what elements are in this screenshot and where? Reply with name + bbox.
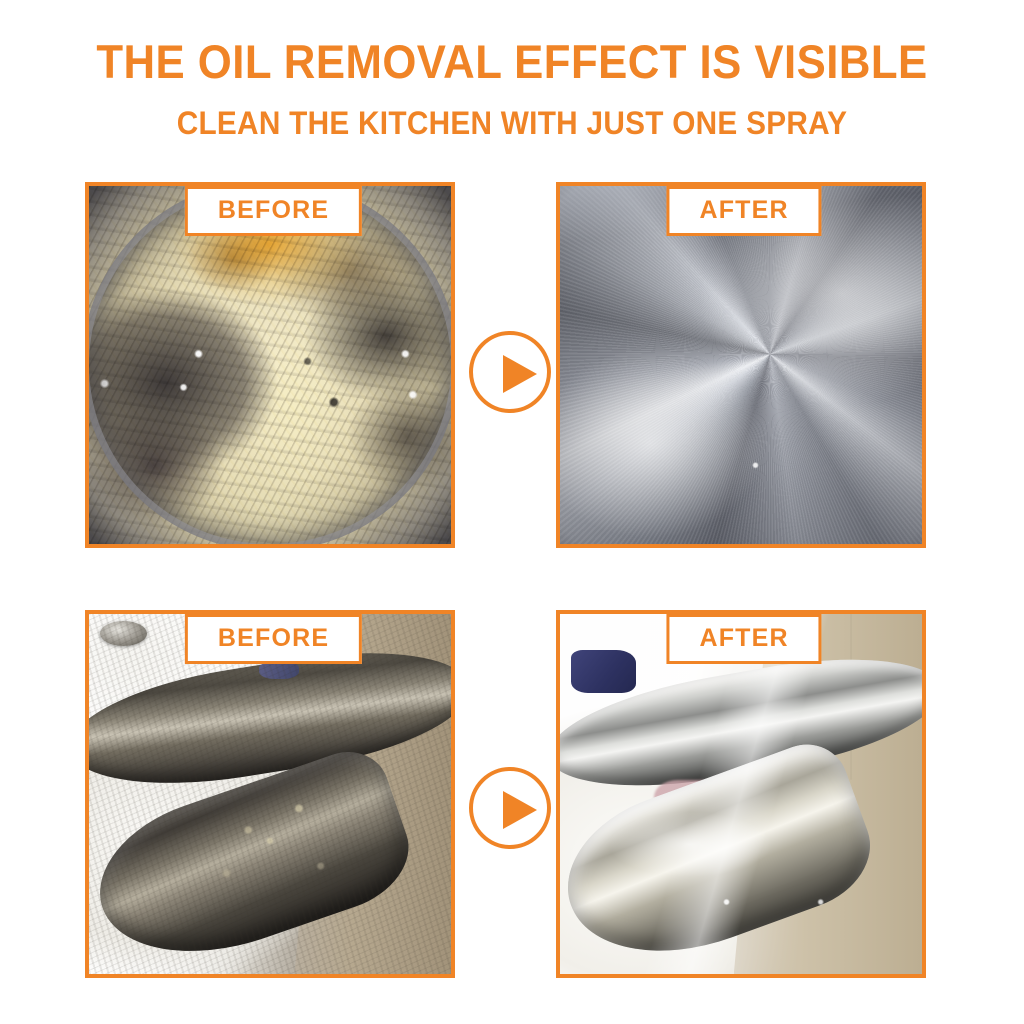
before-badge-faucet: BEFORE [185, 614, 362, 664]
pot-before-photo [89, 186, 451, 544]
gloss-overlay [560, 614, 922, 974]
triangle-glyph [503, 355, 537, 393]
after-image-panel-faucet: AFTER [556, 610, 926, 978]
before-badge-pot: BEFORE [185, 186, 362, 236]
faucet-after-photo [560, 614, 922, 974]
promo-poster: THE OIL REMOVAL EFFECT IS VISIBLE CLEAN … [0, 0, 1024, 1024]
faucet-before-photo [89, 614, 451, 974]
before-image-panel-pot: BEFORE [85, 182, 455, 548]
triangle-glyph [503, 791, 537, 829]
after-badge-pot: AFTER [666, 186, 821, 236]
page-title: THE OIL REMOVAL EFFECT IS VISIBLE [36, 38, 988, 85]
play-arrow-icon-faucet[interactable] [469, 767, 551, 849]
page-subtitle: CLEAN THE KITCHEN WITH JUST ONE SPRAY [36, 107, 988, 139]
play-arrow-icon-pot[interactable] [469, 331, 551, 413]
pot-after-photo [560, 186, 922, 544]
after-badge-faucet: AFTER [666, 614, 821, 664]
grime-overlay [89, 614, 451, 974]
after-image-panel-pot: AFTER [556, 182, 926, 548]
before-image-panel-faucet: BEFORE [85, 610, 455, 978]
